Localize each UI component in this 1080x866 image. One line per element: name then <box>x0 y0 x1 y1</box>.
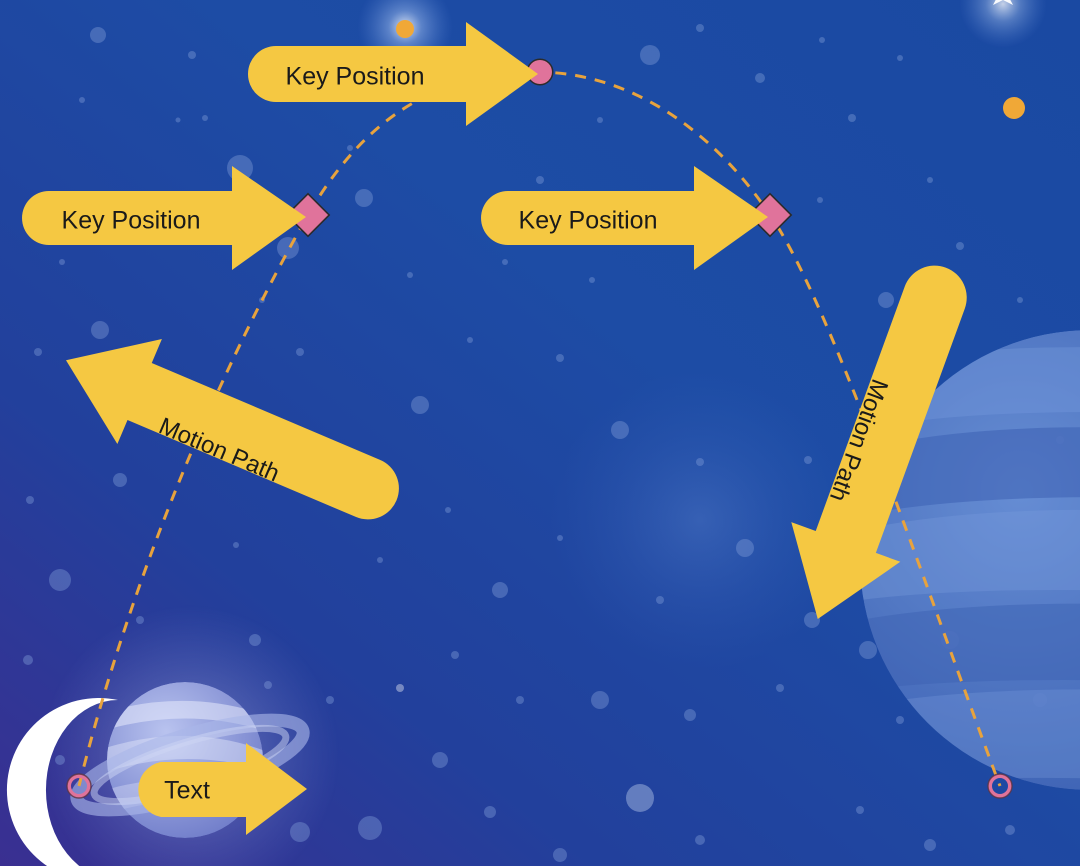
motion-path-arrow-left[interactable]: Motion Path <box>44 308 419 553</box>
text-arrow[interactable]: Text <box>138 743 307 835</box>
key-position-arrow-right[interactable]: Key Position <box>481 166 768 270</box>
key-position-arrow-right-label: Key Position <box>519 207 658 235</box>
annotation-arrows-layer: Key Position Key Position Key Position M… <box>0 0 1080 866</box>
motion-path-arrow-right[interactable]: Motion Path <box>763 248 1000 639</box>
key-position-arrow-left[interactable]: Key Position <box>22 166 306 270</box>
key-position-arrow-top-label: Key Position <box>286 63 425 91</box>
text-arrow-label: Text <box>164 777 210 805</box>
key-position-arrow-left-label: Key Position <box>62 207 201 235</box>
diagram-canvas: Key Position Key Position Key Position M… <box>0 0 1080 866</box>
key-position-arrow-top[interactable]: Key Position <box>248 22 538 126</box>
